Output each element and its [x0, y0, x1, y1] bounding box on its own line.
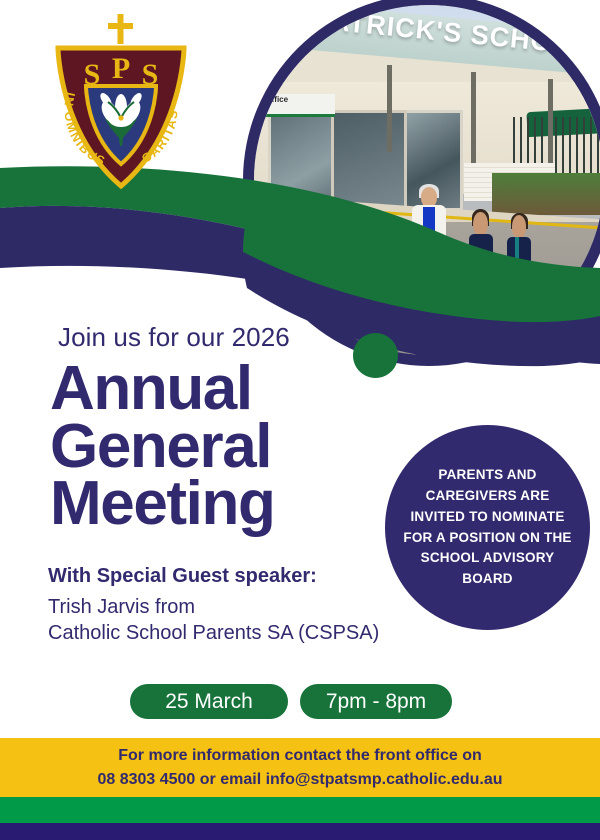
school-crest-logo: S P S IN OMNIBUS CARITAS — [46, 8, 196, 198]
nomination-badge-text: PARENTS AND CAREGIVERS ARE INVITED TO NO… — [403, 465, 573, 591]
photo-student — [506, 215, 532, 324]
kicker-text: Join us for our 2026 — [58, 322, 290, 353]
page-title: Annual General Meeting — [50, 360, 390, 533]
event-date-pill: 25 March — [130, 684, 288, 719]
photo-circle-frame: ST PATRICK'S SCHOOL Office — [243, 0, 600, 366]
footer-green-stripe — [0, 797, 600, 823]
svg-text:P: P — [112, 52, 130, 85]
photo-verandah-post-3 — [548, 79, 553, 163]
footer-line-2: 08 8303 4500 or email info@stpatsmp.cath… — [97, 768, 502, 791]
photo-garden-bed — [492, 173, 600, 215]
photo-office-sign: Office — [261, 94, 335, 116]
headline-line-1: Annual — [50, 360, 390, 418]
speaker-block: With Special Guest speaker: Trish Jarvis… — [48, 565, 408, 647]
photo-student — [370, 215, 396, 320]
headline-line-2: General — [50, 418, 390, 476]
photo-student — [468, 212, 494, 324]
speaker-name: Trish Jarvis from — [48, 594, 408, 620]
photo-student — [342, 226, 368, 324]
headline-line-3: Meeting — [50, 475, 390, 533]
speaker-lead: With Special Guest speaker: — [48, 565, 408, 588]
nomination-badge: PARENTS AND CAREGIVERS ARE INVITED TO NO… — [385, 425, 590, 630]
event-time-pill: 7pm - 8pm — [300, 684, 452, 719]
speaker-organisation: Catholic School Parents SA (CSPSA) — [48, 620, 408, 646]
photo-verandah-post-2 — [471, 72, 476, 163]
footer-contact-bar: For more information contact the front o… — [0, 738, 600, 797]
photo-verandah-post-1 — [387, 65, 392, 153]
photo-office-sign-label: Office — [265, 95, 288, 104]
agm-poster: ST PATRICK'S SCHOOL Office — [0, 0, 600, 840]
cross-icon — [108, 14, 133, 44]
photo-guest-speaker — [412, 187, 447, 327]
school-photo: ST PATRICK'S SCHOOL Office — [254, 5, 600, 355]
footer-purple-stripe — [0, 823, 600, 840]
footer-line-1: For more information contact the front o… — [118, 744, 482, 767]
